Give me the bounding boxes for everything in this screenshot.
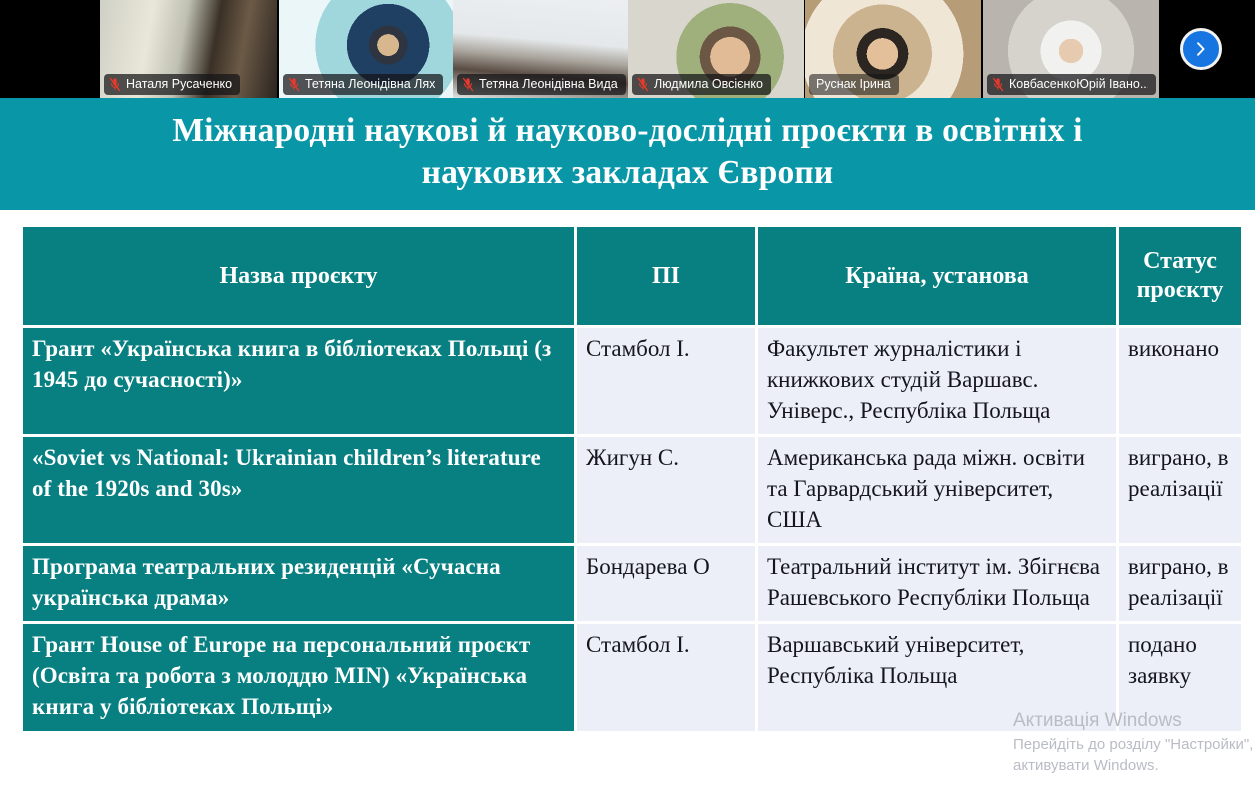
participant-tile[interactable]: Наталя Русаченко xyxy=(100,0,277,98)
table-row: Грант House of Europe на персональний пр… xyxy=(23,624,1241,730)
participant-name-pill: КовбасенкоЮрій Івано... xyxy=(987,74,1156,95)
cell-project-status: виграно, в реалізації xyxy=(1119,437,1241,543)
cell-country-institution: Театральний інститут ім. Збігнєва Рашевс… xyxy=(758,546,1116,621)
participant-name-pill: Наталя Русаченко xyxy=(104,74,240,95)
table-row: «Soviet vs National: Ukrainian children’… xyxy=(23,437,1241,543)
microphone-muted-icon xyxy=(637,77,649,92)
cell-person: Жигун С. xyxy=(577,437,755,543)
page-title: Міжнародні наукові й науково-дослідні пр… xyxy=(120,110,1135,194)
chevron-right-icon xyxy=(1193,41,1209,57)
cell-country-institution: Варшавський університет, Республіка Поль… xyxy=(758,624,1116,730)
participant-tile[interactable]: КовбасенкоЮрій Івано... xyxy=(983,0,1159,98)
participant-name-pill: Тетяна Леонідівна Лях xyxy=(283,74,443,95)
participant-name-label: Тетяна Леонідівна Лях xyxy=(305,74,435,95)
table-row: Програма театральних резиденцій «Сучасна… xyxy=(23,546,1241,621)
cell-project-status: виграно, в реалізації xyxy=(1119,546,1241,621)
participant-name-label: Руснак Ірина xyxy=(816,74,891,95)
table-header-row: Назва проєкту ПІ Країна, установа Статус… xyxy=(23,227,1241,325)
microphone-muted-icon xyxy=(992,77,1004,92)
cell-country-institution: Американська рада міжн. освіти та Гарвар… xyxy=(758,437,1116,543)
participant-name-label: Наталя Русаченко xyxy=(126,74,232,95)
cell-project-name: Грант «Українська книга в бібліотеках По… xyxy=(23,328,574,434)
microphone-muted-icon xyxy=(288,77,300,92)
participant-name-pill: Руснак Ірина xyxy=(809,74,899,95)
presentation-slide: Міжнародні наукові й науково-дослідні пр… xyxy=(0,98,1255,808)
column-header-project-name: Назва проєкту xyxy=(23,227,574,325)
microphone-muted-icon xyxy=(109,77,121,92)
zoom-shared-screen: Наталя РусаченкоТетяна Леонідівна ЛяхТет… xyxy=(0,0,1255,808)
projects-table: Назва проєкту ПІ Країна, установа Статус… xyxy=(20,224,1244,734)
column-header-country-institution: Країна, установа xyxy=(758,227,1116,325)
cell-person: Стамбол І. xyxy=(577,328,755,434)
participant-filmstrip[interactable]: Наталя РусаченкоТетяна Леонідівна ЛяхТет… xyxy=(0,0,1255,98)
table-body: Грант «Українська книга в бібліотеках По… xyxy=(23,328,1241,731)
watermark-subtitle: Перейдіть до розділу "Настройки", щоб ак… xyxy=(1013,734,1255,778)
participant-name-label: КовбасенкоЮрій Івано... xyxy=(1009,74,1148,95)
cell-project-name: Грант House of Europe на персональний пр… xyxy=(23,624,574,730)
participant-name-pill: Людмила Овсієнко xyxy=(632,74,771,95)
cell-person: Бондарева О xyxy=(577,546,755,621)
cell-person: Стамбол І. xyxy=(577,624,755,730)
table-row: Грант «Українська книга в бібліотеках По… xyxy=(23,328,1241,434)
column-header-project-status: Статус проєкту xyxy=(1119,227,1241,325)
cell-project-name: «Soviet vs National: Ukrainian children’… xyxy=(23,437,574,543)
table-header: Назва проєкту ПІ Країна, установа Статус… xyxy=(23,227,1241,325)
cell-project-name: Програма театральних резиденцій «Сучасна… xyxy=(23,546,574,621)
participant-tile[interactable]: Людмила Овсієнко xyxy=(628,0,804,98)
column-header-person: ПІ xyxy=(577,227,755,325)
participant-tile[interactable]: Тетяна Леонідівна Вида... xyxy=(453,0,629,98)
cell-country-institution: Факультет журналістики і книжкових студі… xyxy=(758,328,1116,434)
participant-name-label: Тетяна Леонідівна Вида... xyxy=(479,74,618,95)
participant-tile[interactable]: Тетяна Леонідівна Лях xyxy=(279,0,455,98)
participant-tile[interactable]: Руснак Ірина xyxy=(805,0,981,98)
filmstrip-next-page-button[interactable] xyxy=(1180,28,1222,70)
microphone-muted-icon xyxy=(462,77,474,92)
participant-name-pill: Тетяна Леонідівна Вида... xyxy=(457,74,626,95)
participant-name-label: Людмила Овсієнко xyxy=(654,74,763,95)
cell-project-status: виконано xyxy=(1119,328,1241,434)
cell-project-status: подано заявку xyxy=(1119,624,1241,730)
